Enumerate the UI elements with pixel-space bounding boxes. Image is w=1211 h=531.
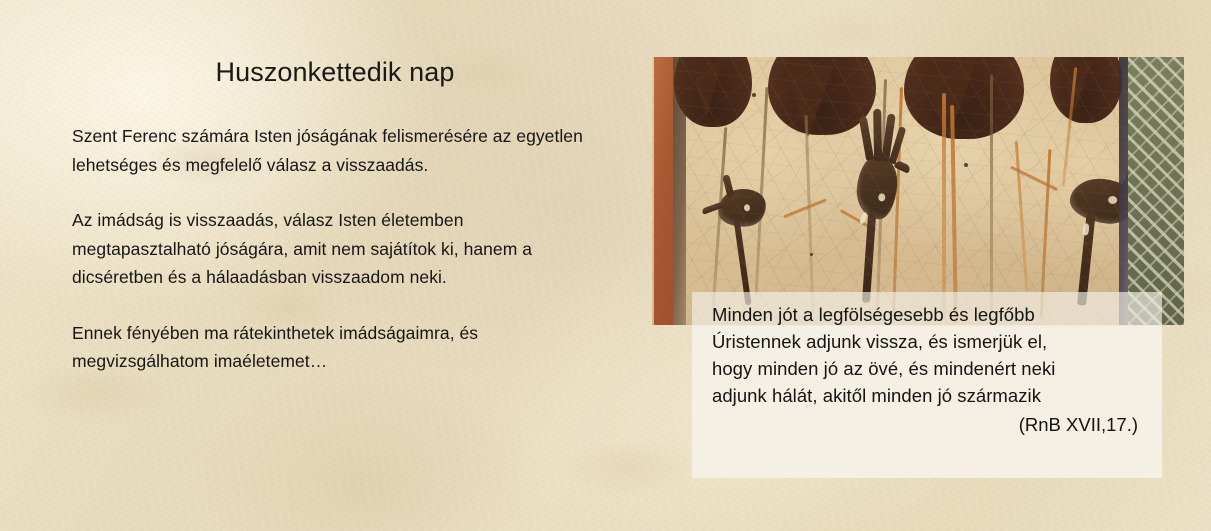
quote-line-2: Úristennek adjunk vissza, és ismerjük el… [712,328,1142,355]
body-paragraph-3: Ennek fényében ma rátekinthetek imádsága… [72,319,592,376]
presentation-slide: Huszonkettedik nap Szent Ferenc számára … [0,0,1211,531]
quote-line-4: adjunk hálát, akitől minden jó származik [712,382,1142,409]
quote-overlay-box: Minden jót a legfölségesebb és legfőbb Ú… [692,292,1162,478]
left-text-column: Huszonkettedik nap Szent Ferenc számára … [72,56,592,376]
page-title: Huszonkettedik nap [72,56,592,88]
quote-line-3: hogy minden jó az övé, és mindenért neki [712,355,1142,382]
quote-line-1: Minden jót a legfölségesebb és legfőbb [712,301,1142,328]
fresco-craquelure-overlay [652,57,1184,325]
body-paragraph-2: Az imádság is visszaadás, válasz Isten é… [72,206,592,292]
quote-source-citation: (RnB XVII,17.) [712,411,1142,438]
body-paragraph-1: Szent Ferenc számára Isten jóságának fel… [72,122,592,179]
fresco-image [652,57,1184,325]
